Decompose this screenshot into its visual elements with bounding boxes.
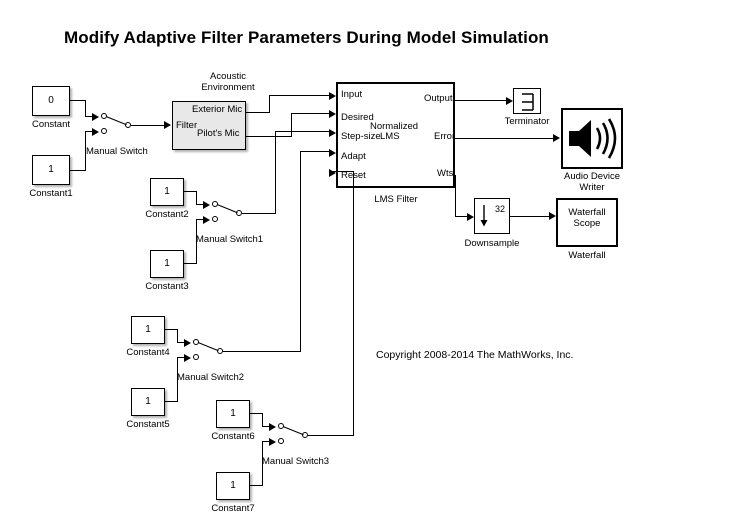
waterfall-inner-line2: Scope xyxy=(556,218,618,229)
terminator-icon xyxy=(514,89,542,115)
wire xyxy=(455,138,555,139)
audio-writer-label-line2: Writer xyxy=(556,182,628,193)
lms-input-label-stepsize: Step-size xyxy=(341,131,381,142)
wire xyxy=(455,175,456,217)
wire-arrow xyxy=(92,113,99,121)
block-label-constant1: Constant1 xyxy=(12,188,90,199)
wire xyxy=(269,95,331,96)
constant4-value: 1 xyxy=(131,325,165,335)
wire-arrow xyxy=(164,121,171,129)
audio-writer-label-line1: Audio Device xyxy=(556,171,628,182)
switch-knob-bottom xyxy=(101,128,107,134)
waterfall-inner-line1: Waterfall xyxy=(556,207,618,218)
block-terminator[interactable] xyxy=(513,88,541,114)
lms-input-label-adapt: Adapt xyxy=(341,151,366,162)
wire xyxy=(242,213,276,214)
simulink-model-canvas: Modify Adaptive Filter Parameters During… xyxy=(0,0,741,525)
wire xyxy=(70,170,86,171)
wire-arrow xyxy=(467,213,474,221)
downsample-factor: 32 xyxy=(490,205,510,214)
lms-output-label-error: Error xyxy=(434,131,455,142)
wire xyxy=(291,113,292,136)
acoustic-input-port-label: Filter xyxy=(176,120,197,131)
wire-arrow xyxy=(203,216,210,224)
switch1-blade xyxy=(217,204,238,214)
block-audio-device-writer[interactable] xyxy=(561,108,623,169)
acoustic-output-port1-label: Exterior Mic xyxy=(192,104,242,115)
wire xyxy=(223,351,301,352)
block-label-constant3: Constant3 xyxy=(133,281,201,292)
wire-arrow xyxy=(506,97,513,105)
diagram-title: Modify Adaptive Filter Parameters During… xyxy=(64,28,549,48)
wire xyxy=(131,125,165,126)
lms-input-label-input: Input xyxy=(341,89,362,100)
wire xyxy=(330,171,354,172)
block-label-waterfall: Waterfall xyxy=(556,250,618,261)
block-label-lms-filter: LMS Filter xyxy=(355,194,437,205)
block-label-constant7: Constant7 xyxy=(199,503,267,514)
lms-output-label-output: Output xyxy=(424,93,453,104)
constant1-value: 1 xyxy=(32,165,70,175)
wire xyxy=(308,435,354,436)
lms-input-label-desired: Desired xyxy=(341,112,374,123)
wire xyxy=(353,171,354,435)
block-label-constant5: Constant5 xyxy=(114,419,182,430)
constant-value: 0 xyxy=(32,96,70,106)
block-label-manual-switch2: Manual Switch2 xyxy=(177,372,244,383)
wire xyxy=(291,113,331,114)
wire-arrow xyxy=(269,438,276,446)
constant3-value: 1 xyxy=(150,259,184,269)
block-label-manual-switch3: Manual Switch3 xyxy=(262,456,329,467)
switch2-knob-bottom xyxy=(193,354,199,360)
wire-arrow xyxy=(329,169,336,177)
lms-output-label-wts: Wts xyxy=(437,168,453,179)
constant7-value: 1 xyxy=(216,481,250,491)
acoustic-caption-line1: Acoustic xyxy=(173,71,283,82)
wire xyxy=(85,100,86,117)
lms-inner-label-lms: LMS xyxy=(380,131,400,142)
switch2-blade xyxy=(198,342,219,352)
wire xyxy=(300,151,331,152)
switch1-knob-bottom xyxy=(212,216,218,222)
switch-blade xyxy=(106,116,127,126)
constant6-value: 1 xyxy=(216,409,250,419)
wire xyxy=(275,131,276,213)
block-label-downsample: Downsample xyxy=(459,238,525,249)
wire-arrow xyxy=(549,212,556,220)
speaker-icon xyxy=(563,110,621,167)
acoustic-output-port2-label: Pilot's Mic xyxy=(197,128,239,139)
wire-arrow xyxy=(269,423,276,431)
wire xyxy=(300,151,301,351)
wire-arrow xyxy=(92,128,99,136)
wire xyxy=(262,413,263,427)
wire-arrow xyxy=(329,92,336,100)
wire xyxy=(70,100,86,101)
block-label-constant6: Constant6 xyxy=(199,431,267,442)
wire xyxy=(177,329,178,343)
wire-arrow xyxy=(184,354,191,362)
block-label-constant: Constant xyxy=(17,119,85,130)
wire xyxy=(196,191,197,205)
acoustic-caption-line2: Environment xyxy=(173,82,283,93)
switch3-knob-bottom xyxy=(278,438,284,444)
wire xyxy=(246,136,292,137)
wire-arrow xyxy=(329,110,336,118)
wire-arrow xyxy=(329,149,336,157)
wire-arrow xyxy=(553,134,560,142)
wire xyxy=(455,100,510,101)
block-label-manual-switch1: Manual Switch1 xyxy=(196,234,263,245)
copyright-text: Copyright 2008-2014 The MathWorks, Inc. xyxy=(376,349,573,361)
wire xyxy=(269,95,270,112)
block-label-terminator: Terminator xyxy=(493,116,561,127)
wire-arrow xyxy=(184,339,191,347)
wire xyxy=(510,216,552,217)
wire-arrow xyxy=(203,201,210,209)
wire xyxy=(246,112,270,113)
block-label-constant2: Constant2 xyxy=(133,209,201,220)
constant5-value: 1 xyxy=(131,397,165,407)
constant2-value: 1 xyxy=(150,187,184,197)
block-label-constant4: Constant4 xyxy=(114,347,182,358)
wire-arrow xyxy=(329,129,336,137)
switch3-blade xyxy=(283,426,304,436)
block-label-manual-switch: Manual Switch xyxy=(86,146,148,157)
wire xyxy=(275,131,331,132)
